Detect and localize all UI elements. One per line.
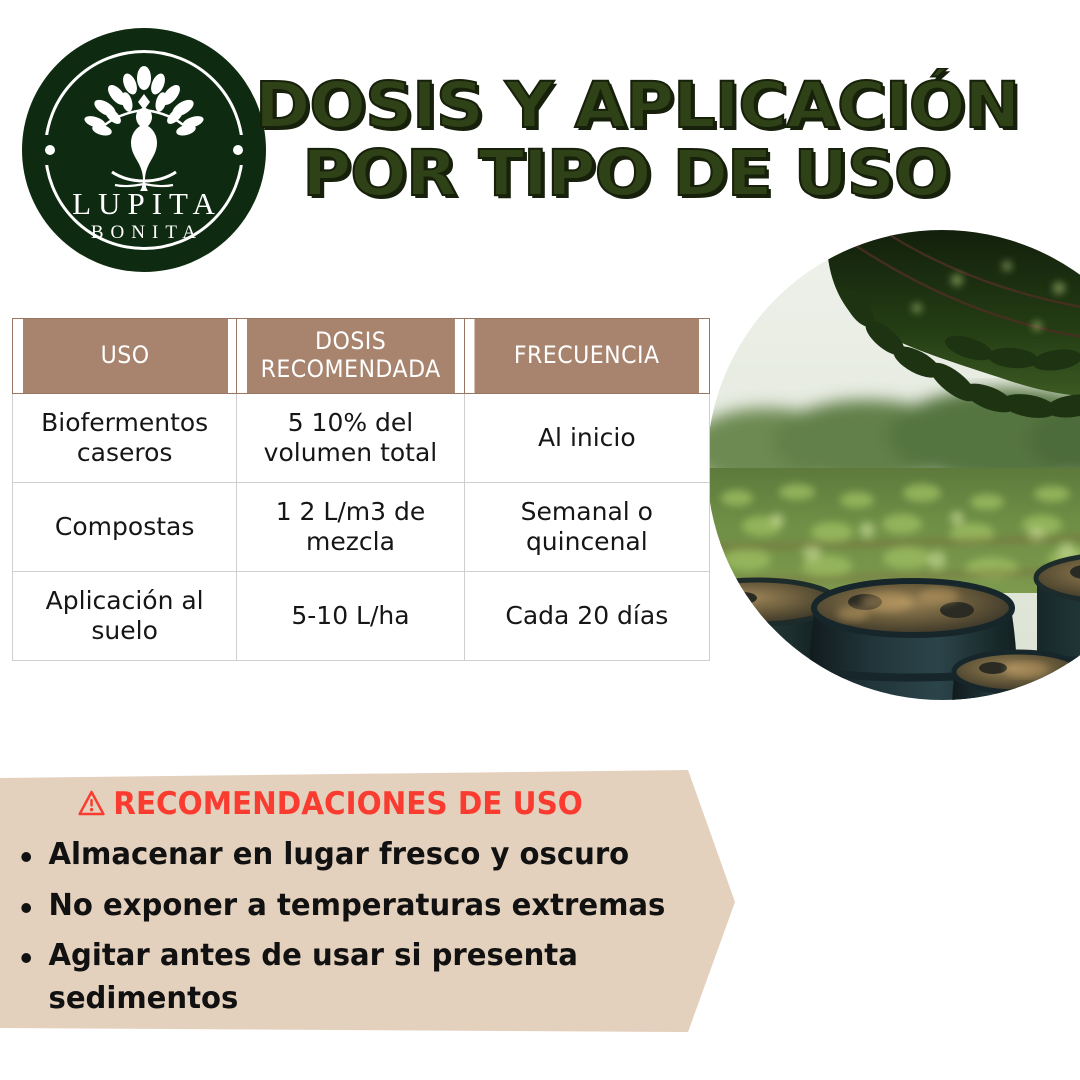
table-body: Biofermentos caseros 5 10% del volumen t… bbox=[13, 394, 710, 661]
cell-frecuencia: Al inicio bbox=[464, 394, 709, 483]
column-header-frecuencia: FRECUENCIA bbox=[474, 319, 700, 394]
table-header: USO DOSIS RECOMENDADA FRECUENCIA bbox=[13, 319, 710, 394]
column-header-frecuencia-line-1: FRECUENCIA bbox=[474, 342, 699, 370]
logo-ring-dot-right bbox=[233, 145, 243, 155]
cell-uso: Biofermentos caseros bbox=[13, 394, 237, 483]
logo-brand-name: LUPITA bbox=[22, 188, 266, 219]
cell-frecuencia: Semanal o quincenal bbox=[464, 483, 709, 572]
cell-uso: Compostas bbox=[13, 483, 237, 572]
barrels-in-field-photo bbox=[707, 230, 1080, 700]
bullet-icon bbox=[21, 953, 31, 963]
column-header-uso: USO bbox=[21, 319, 227, 394]
list-item-label: Almacenar en lugar fresco y oscuro bbox=[49, 837, 630, 872]
cell-dosis: 1 2 L/m3 de mezcla bbox=[237, 483, 464, 572]
column-header-uso-line-1: USO bbox=[22, 342, 227, 370]
table-row: Compostas 1 2 L/m3 de mezcla Semanal o q… bbox=[13, 483, 710, 572]
recommendations-list: Almacenar en lugar fresco y oscuro No ex… bbox=[0, 834, 700, 1028]
bullet-icon bbox=[21, 903, 31, 913]
cell-dosis: 5-10 L/ha bbox=[237, 572, 464, 661]
column-header-dosis: DOSIS RECOMENDADA bbox=[246, 319, 455, 394]
logo-brand-subtitle: BONITA bbox=[22, 223, 266, 242]
warning-triangle-icon bbox=[77, 789, 106, 817]
list-item-label: Agitar antes de usar si presenta sedimen… bbox=[49, 938, 578, 1016]
table-row: Biofermentos caseros 5 10% del volumen t… bbox=[13, 394, 710, 483]
brand-logo: LUPITA BONITA bbox=[22, 28, 266, 272]
cell-dosis: 5 10% del volumen total bbox=[237, 394, 464, 483]
page-title-line-1: DOSIS Y APLICACIÓN bbox=[255, 76, 997, 136]
list-item-label: No exponer a temperaturas extremas bbox=[49, 888, 666, 923]
list-item: No exponer a temperaturas extremas bbox=[0, 885, 679, 928]
dosage-table: USO DOSIS RECOMENDADA FRECUENCIA Bioferm… bbox=[12, 318, 710, 661]
bullet-icon bbox=[21, 852, 31, 862]
table-header-row: USO DOSIS RECOMENDADA FRECUENCIA bbox=[13, 319, 710, 394]
infographic-canvas: LUPITA BONITA DOSIS Y APLICACIÓN POR TIP… bbox=[0, 0, 1080, 1080]
page-title: DOSIS Y APLICACIÓN POR TIPO DE USO bbox=[276, 76, 976, 205]
recommendations-title-row: RECOMENDACIONES DE USO bbox=[17, 786, 644, 822]
logo-ring-dot-left bbox=[45, 145, 55, 155]
column-header-dosis-line-1: DOSIS bbox=[246, 328, 454, 356]
cell-frecuencia: Cada 20 días bbox=[464, 572, 709, 661]
table-row: Aplicación al suelo 5-10 L/ha Cada 20 dí… bbox=[13, 572, 710, 661]
recommendations-title: RECOMENDACIONES DE USO bbox=[113, 786, 583, 822]
column-header-dosis-line-2: RECOMENDADA bbox=[246, 356, 454, 384]
page-title-line-2: POR TIPO DE USO bbox=[255, 144, 997, 204]
recommendations-panel: RECOMENDACIONES DE USO Almacenar en luga… bbox=[0, 770, 735, 1032]
cell-uso: Aplicación al suelo bbox=[13, 572, 237, 661]
tree-goddess-icon bbox=[69, 64, 219, 194]
list-item: Agitar antes de usar si presenta sedimen… bbox=[0, 935, 679, 1020]
list-item: Almacenar en lugar fresco y oscuro bbox=[0, 834, 679, 877]
